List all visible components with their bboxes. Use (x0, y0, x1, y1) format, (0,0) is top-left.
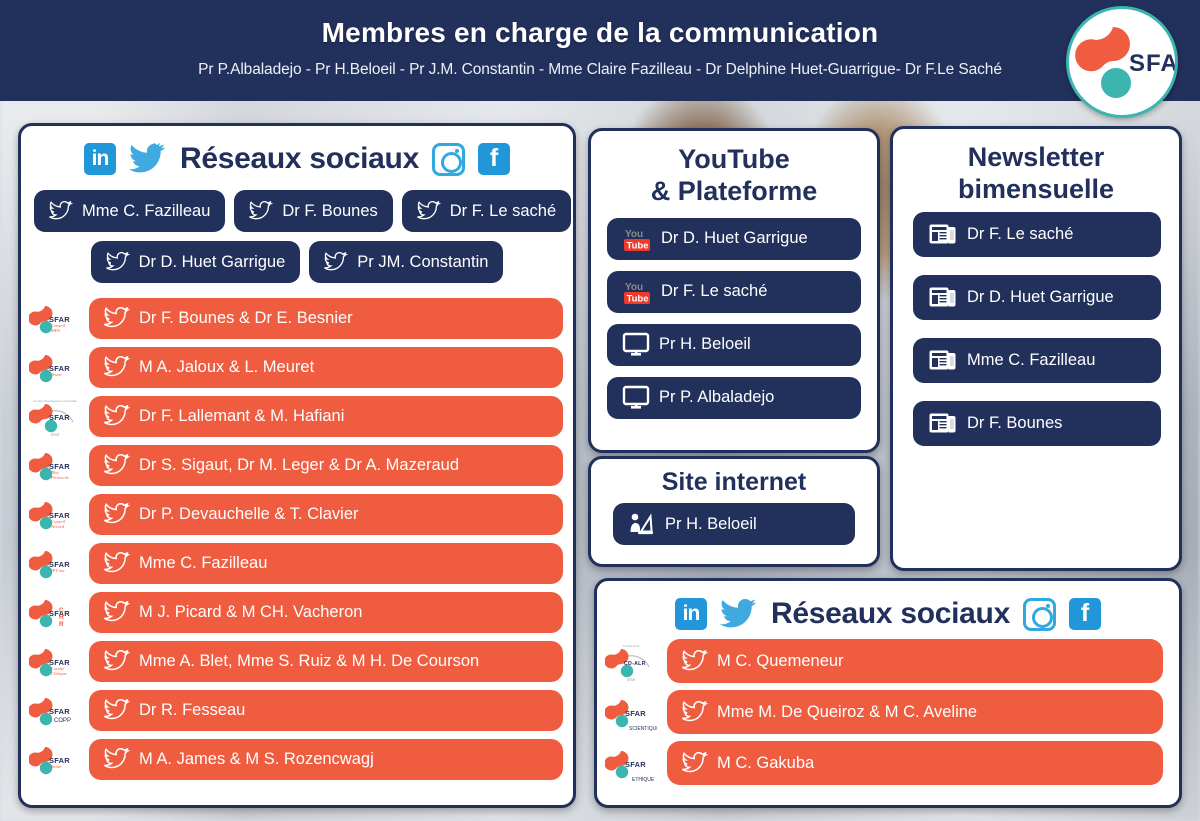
twitter-chip[interactable]: Dr F. Le saché (402, 190, 571, 232)
committee-pill[interactable]: M A. James & M S. Rozencwagj (89, 739, 563, 780)
committee-pill-label: Dr R. Fesseau (139, 701, 245, 720)
youtube-item-label: Dr F. Le saché (661, 282, 767, 301)
panel-title-site: Site internet (591, 459, 877, 497)
panel-title-newsletter: Newsletter bimensuelle (893, 129, 1179, 206)
committee-row: Comité Développement DurableSFARSFARDr F… (29, 394, 563, 438)
twitter-outline-icon (104, 699, 130, 721)
svg-text:Clinique: Clinique (51, 671, 67, 676)
twitter-chip-label: Dr F. Le saché (450, 202, 556, 221)
committee-row: SFARCOPPDr R. Fesseau (29, 688, 563, 732)
cd-alr-sfar-logo: Comité ALRSFARCD-ALR (605, 639, 657, 683)
sfar-conseil-mfa-logo: SFARConseilMFA (29, 296, 81, 340)
monitor-icon (622, 332, 650, 358)
youtube-item[interactable]: Pr H. Beloeil (607, 324, 861, 366)
sfar-developpement-durable-logo: Comité Développement DurableSFARSFAR (29, 394, 81, 438)
newsletter-item[interactable]: Mme C. Fazilleau (913, 338, 1161, 383)
svg-text:H: H (59, 614, 64, 621)
twitter-chip-row-1: Mme C. Fazilleau Dr F. Bounes Dr F. Le s… (34, 190, 560, 232)
youtube-icon: YouTube (622, 226, 652, 252)
panel-newsletter-bimensuelle: Newsletter bimensuelle Dr F. Le sachéDr … (890, 126, 1182, 571)
committee-row: SFARSCIENTIQUEMme M. De Queiroz & M C. A… (605, 690, 1163, 734)
svg-text:COPP: COPP (54, 718, 71, 724)
committee-row: SFARConseilMFADr F. Bounes & Dr E. Besni… (29, 296, 563, 340)
svg-text:SFAR: SFAR (627, 678, 636, 682)
newsletter-item[interactable]: Dr F. Bounes (913, 401, 1161, 446)
committee-rows-main: SFARConseilMFADr F. Bounes & Dr E. Besni… (21, 292, 573, 781)
newsletter-item[interactable]: Dr D. Huet Garrigue (913, 275, 1161, 320)
svg-text:SCIENTIQUE: SCIENTIQUE (629, 726, 657, 732)
svg-text:Jeune: Jeune (51, 372, 62, 377)
svg-text:CD-ALR: CD-ALR (624, 661, 646, 667)
linkedin-icon[interactable] (675, 598, 707, 630)
committee-pill[interactable]: Mme M. De Queiroz & M C. Aveline (667, 690, 1163, 734)
svg-text:SFAR: SFAR (625, 709, 646, 718)
instagram-icon[interactable] (432, 143, 465, 176)
committee-pill[interactable]: M J. Picard & M CH. Vacheron (89, 592, 563, 633)
sfar-conseil-accord-logo: SFARConseilAccord (29, 492, 81, 536)
facebook-icon[interactable] (1069, 598, 1101, 630)
sfar-ethique-logo: SFARETHIQUE (605, 741, 657, 785)
svg-text:SFAR: SFAR (51, 433, 60, 437)
twitter-chip-row-2: Dr D. Huet Garrigue Pr JM. Constantin (34, 241, 560, 283)
svg-text:Tube: Tube (627, 240, 649, 251)
panel-title-youtube-line2: & Plateforme (591, 176, 877, 208)
svg-text:IPV me: IPV me (50, 568, 65, 573)
page-header: Membres en charge de la communication Pr… (0, 0, 1200, 101)
committee-pill[interactable]: Dr R. Fesseau (89, 690, 563, 731)
newsletter-item-list: Dr F. Le sachéDr D. Huet GarrigueMme C. … (893, 206, 1179, 446)
twitter-chip[interactable]: Dr F. Bounes (234, 190, 392, 232)
panel-site-internet: Site internet Pr H. Beloeil (588, 456, 880, 567)
sfar-chr-logo: SFARCHR (29, 590, 81, 634)
twitter-outline-icon (682, 752, 708, 774)
committee-pill-label: M J. Picard & M CH. Vacheron (139, 603, 362, 622)
committee-row: SFARSantéM A. James & M S. Rozencwagj (29, 737, 563, 781)
committee-pill[interactable]: Dr S. Sigaut, Dr M. Leger & Dr A. Mazera… (89, 445, 563, 486)
committee-pill-label: M C. Quemeneur (717, 652, 844, 671)
monitor-icon (622, 385, 650, 411)
twitter-chip-label: Pr JM. Constantin (357, 253, 488, 272)
committee-row: SFARConseilAccordDr P. Devauchelle & T. … (29, 492, 563, 536)
committee-pill-label: M C. Gakuba (717, 754, 814, 773)
twitter-outline-icon (104, 503, 130, 525)
newspaper-icon (928, 284, 958, 310)
twitter-icon[interactable] (720, 598, 758, 630)
twitter-outline-icon (104, 356, 130, 378)
twitter-outline-icon (104, 307, 130, 329)
sfar-copp-logo: SFARCOPP (29, 688, 81, 732)
committee-pill-label: Dr P. Devauchelle & T. Clavier (139, 505, 359, 524)
twitter-chip-label: Mme C. Fazilleau (82, 202, 210, 221)
committee-pill-label: M A. Jaloux & L. Meuret (139, 358, 314, 377)
newspaper-icon (928, 347, 958, 373)
svg-text:ETHIQUE: ETHIQUE (632, 777, 655, 783)
svg-text:You: You (625, 229, 643, 240)
twitter-outline-icon (49, 201, 73, 221)
panel-reseaux-sociaux-secondary: Réseaux sociaux Comité ALRSFARCD-ALRM C.… (594, 578, 1182, 808)
site-item[interactable]: Pr H. Beloeil (613, 503, 855, 545)
svg-text:Comité Développement Durable: Comité Développement Durable (33, 399, 77, 403)
sfar-comite-clinique-logo: SFARComitéClinique (29, 639, 81, 683)
youtube-item-label: Dr D. Huet Garrigue (661, 229, 808, 248)
facebook-icon[interactable] (478, 143, 510, 175)
svg-text:R: R (59, 621, 64, 628)
linkedin-icon[interactable] (84, 143, 116, 175)
sfar-logo-mark: SFAR (1069, 9, 1175, 115)
newsletter-item-label: Dr F. Le saché (967, 225, 1073, 244)
social-header-secondary: Réseaux sociaux (597, 581, 1179, 631)
panel-reseaux-sociaux-main: Réseaux sociaux Mme C. Fazilleau Dr (18, 123, 576, 808)
committee-row: SFARIPV meMme C. Fazilleau (29, 541, 563, 585)
svg-text:Protocole: Protocole (50, 475, 69, 480)
svg-text:You: You (625, 282, 643, 293)
twitter-outline-icon (104, 601, 130, 623)
sfar-ipv-logo: SFARIPV me (29, 541, 81, 585)
page-subtitle: Pr P.Albaladejo - Pr H.Beloeil - Pr J.M.… (0, 49, 1200, 79)
twitter-outline-icon (104, 454, 130, 476)
twitter-chip-label: Dr D. Huet Garrigue (139, 253, 286, 272)
committee-pill[interactable]: Mme A. Blet, Mme S. Ruiz & M H. De Cours… (89, 641, 563, 682)
svg-text:Comité ALR: Comité ALR (623, 644, 640, 648)
committee-pill[interactable]: M C. Gakuba (667, 741, 1163, 785)
youtube-item[interactable]: YouTubeDr F. Le saché (607, 271, 861, 313)
panel-title-newsletter-line2: bimensuelle (893, 174, 1179, 206)
panel-title-newsletter-line1: Newsletter (893, 142, 1179, 174)
committee-row: SFARCHRM J. Picard & M CH. Vacheron (29, 590, 563, 634)
svg-text:SFAR: SFAR (49, 707, 70, 716)
panel-title-social-secondary: Réseaux sociaux (771, 597, 1010, 631)
panel-title-social-main: Réseaux sociaux (180, 142, 419, 176)
newsletter-item-label: Dr F. Bounes (967, 414, 1062, 433)
twitter-chip[interactable]: Mme C. Fazilleau (34, 190, 225, 232)
site-item-list: Pr H. Beloeil (591, 497, 877, 545)
twitter-outline-icon (324, 252, 348, 272)
svg-text:MFA: MFA (50, 328, 60, 333)
committee-pill[interactable]: Dr F. Bounes & Dr E. Besnier (89, 298, 563, 339)
twitter-chip[interactable]: Dr D. Huet Garrigue (91, 241, 301, 283)
committee-row: SFARJeuneM A. Jaloux & L. Meuret (29, 345, 563, 389)
svg-text:C: C (59, 607, 64, 614)
committee-row: SFARETHIQUEM C. Gakuba (605, 741, 1163, 785)
youtube-item-label: Pr P. Albaladejo (659, 388, 774, 407)
committee-pill-label: Mme A. Blet, Mme S. Ruiz & M H. De Cours… (139, 652, 479, 671)
youtube-item-label: Pr H. Beloeil (659, 335, 751, 354)
twitter-outline-icon (249, 201, 273, 221)
committee-pill-label: M A. James & M S. Rozencwagj (139, 750, 374, 769)
newsletter-item-label: Dr D. Huet Garrigue (967, 288, 1114, 307)
youtube-item[interactable]: Pr P. Albaladejo (607, 377, 861, 419)
svg-text:SFAR: SFAR (625, 760, 646, 769)
svg-text:Santé: Santé (51, 764, 62, 769)
svg-text:SFAR: SFAR (1129, 50, 1175, 77)
panel-youtube-plateforme: YouTube & Plateforme YouTubeDr D. Huet G… (588, 128, 880, 453)
committee-row: Comité ALRSFARCD-ALRM C. Quemeneur (605, 639, 1163, 683)
sfar-scientique-logo: SFARSCIENTIQUE (605, 690, 657, 734)
committee-pill-label: Mme C. Fazilleau (139, 554, 267, 573)
youtube-icon: YouTube (622, 279, 652, 305)
newspaper-icon (928, 221, 958, 247)
twitter-outline-icon (682, 650, 708, 672)
sfar-sante-logo: SFARSanté (29, 737, 81, 781)
page-title: Membres en charge de la communication (0, 0, 1200, 49)
panel-title-youtube: YouTube & Plateforme (591, 131, 877, 208)
committee-pill[interactable]: M A. Jaloux & L. Meuret (89, 347, 563, 388)
committee-pill-label: Dr F. Bounes & Dr E. Besnier (139, 309, 353, 328)
sfar-logo: SFAR (1066, 6, 1178, 118)
svg-text:Accord: Accord (50, 524, 65, 529)
committee-pill[interactable]: M C. Quemeneur (667, 639, 1163, 683)
twitter-chip-rows: Mme C. Fazilleau Dr F. Bounes Dr F. Le s… (21, 176, 573, 283)
committee-pill[interactable]: Dr P. Devauchelle & T. Clavier (89, 494, 563, 535)
committee-pill-label: Dr S. Sigaut, Dr M. Leger & Dr A. Mazera… (139, 456, 459, 475)
site-item-label: Pr H. Beloeil (665, 515, 757, 534)
svg-text:Tube: Tube (627, 293, 649, 304)
panel-title-youtube-line1: YouTube (591, 144, 877, 176)
committee-pill[interactable]: Mme C. Fazilleau (89, 543, 563, 584)
committee-rows-secondary: Comité ALRSFARCD-ALRM C. QuemeneurSFARSC… (597, 631, 1179, 785)
instagram-icon[interactable] (1023, 598, 1056, 631)
sfar-jeune-logo: SFARJeune (29, 345, 81, 389)
twitter-outline-icon (104, 552, 130, 574)
social-header: Réseaux sociaux (21, 126, 573, 176)
committee-pill-label: Dr F. Lallemant & M. Hafiani (139, 407, 344, 426)
twitter-outline-icon (417, 201, 441, 221)
twitter-icon[interactable] (129, 143, 167, 175)
committee-pill[interactable]: Dr F. Lallemant & M. Hafiani (89, 396, 563, 437)
twitter-chip-label: Dr F. Bounes (282, 202, 377, 221)
twitter-outline-icon (104, 650, 130, 672)
newspaper-icon (928, 410, 958, 436)
twitter-outline-icon (104, 748, 130, 770)
person-at-desk-icon (628, 511, 656, 537)
committee-pill-label: Mme M. De Queiroz & M C. Aveline (717, 703, 977, 722)
newsletter-item[interactable]: Dr F. Le saché (913, 212, 1161, 257)
svg-text:SFAR: SFAR (49, 413, 70, 422)
sfar-bloc-protocole-logo: SFARBlocProtocole (29, 443, 81, 487)
committee-row: SFARComitéCliniqueMme A. Blet, Mme S. Ru… (29, 639, 563, 683)
committee-row: SFARBlocProtocoleDr S. Sigaut, Dr M. Leg… (29, 443, 563, 487)
twitter-outline-icon (104, 405, 130, 427)
twitter-outline-icon (106, 252, 130, 272)
twitter-outline-icon (682, 701, 708, 723)
youtube-item[interactable]: YouTubeDr D. Huet Garrigue (607, 218, 861, 260)
twitter-chip[interactable]: Pr JM. Constantin (309, 241, 503, 283)
youtube-item-list: YouTubeDr D. Huet GarrigueYouTubeDr F. L… (591, 208, 877, 419)
newsletter-item-label: Mme C. Fazilleau (967, 351, 1095, 370)
